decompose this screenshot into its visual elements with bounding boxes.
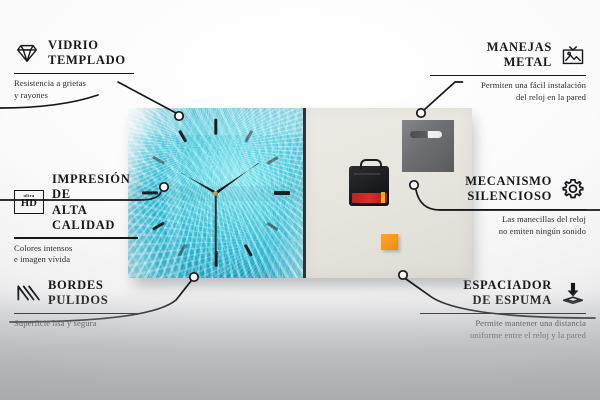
callout-header: MECANISMO SILENCIOSO	[434, 174, 586, 205]
callout-title: VIDRIO TEMPLADO	[48, 38, 126, 69]
clock-tick	[214, 119, 217, 135]
callout-title: ESPACIADOR DE ESPUMA	[463, 278, 552, 309]
arrow-down-stack-icon	[560, 280, 586, 306]
callout-subtitle: Superficie lisa y segura	[14, 318, 142, 330]
callout-divider	[14, 313, 142, 315]
callout-header: ultra HD IMPRESIÓN DE ALTA CALIDAD	[14, 172, 138, 233]
callout-title: MANEJAS METAL	[487, 40, 552, 71]
mechanism-hook	[360, 159, 382, 168]
callout-subtitle: Las manecillas del reloj no emiten ningú…	[434, 214, 586, 237]
callout-subtitle: Resistencia a grietas y rayones	[14, 78, 134, 101]
infographic-canvas: VIDRIO TEMPLADO Resistencia a grietas y …	[0, 0, 600, 400]
callout-subtitle: Colores intensos e imagen vívida	[14, 243, 138, 266]
callout-subtitle: Permite mantener una distancia uniforme …	[420, 318, 586, 341]
ultra-hd-large-label: HD	[21, 199, 37, 210]
callout-header: ESPACIADOR DE ESPUMA	[420, 278, 586, 309]
mechanism-slit	[354, 173, 380, 175]
ultra-hd-icon: ultra HD	[14, 190, 44, 216]
callout-impresion-alta-calidad: ultra HD IMPRESIÓN DE ALTA CALIDAD Color…	[14, 172, 138, 266]
product-image	[128, 108, 472, 280]
callout-title: IMPRESIÓN DE ALTA CALIDAD	[52, 172, 138, 233]
clock-tick	[274, 191, 290, 194]
callout-header: MANEJAS METAL	[430, 40, 586, 71]
callout-manejas-metal: MANEJAS METAL Permiten una fácil instala…	[430, 40, 586, 103]
second-hand	[215, 193, 217, 255]
clock-mechanism-box	[349, 166, 389, 206]
callout-subtitle: Permiten una fácil instalación del reloj…	[430, 80, 586, 103]
gear-icon	[560, 176, 586, 202]
callout-divider	[420, 313, 586, 315]
callout-header: BORDES PULIDOS	[14, 278, 142, 309]
callout-title: BORDES PULIDOS	[48, 278, 108, 309]
callout-divider	[14, 237, 138, 239]
callout-espaciador-espuma: ESPACIADOR DE ESPUMA Permite mantener un…	[420, 278, 586, 341]
callout-divider	[434, 209, 586, 211]
callout-mecanismo-silencioso: MECANISMO SILENCIOSO Las manecillas del …	[434, 174, 586, 237]
hanger-slot	[410, 131, 442, 137]
callout-title: MECANISMO SILENCIOSO	[465, 174, 552, 205]
foam-spacer	[381, 234, 398, 250]
clock-tick	[142, 191, 158, 194]
wall-hanger-frame-icon	[560, 42, 586, 68]
callout-divider	[430, 75, 586, 77]
callout-divider	[14, 73, 134, 75]
callout-header: VIDRIO TEMPLADO	[14, 38, 134, 69]
callout-vidrio-templado: VIDRIO TEMPLADO Resistencia a grietas y …	[14, 38, 134, 101]
battery	[352, 193, 387, 203]
clock-front-panel	[128, 108, 306, 278]
clock-center-cap	[213, 191, 218, 196]
callout-bordes-pulidos: BORDES PULIDOS Superficie lisa y segura	[14, 278, 142, 330]
metal-hanger-plate	[402, 120, 454, 172]
polished-edges-icon	[14, 280, 40, 306]
diamond-icon	[14, 40, 40, 66]
